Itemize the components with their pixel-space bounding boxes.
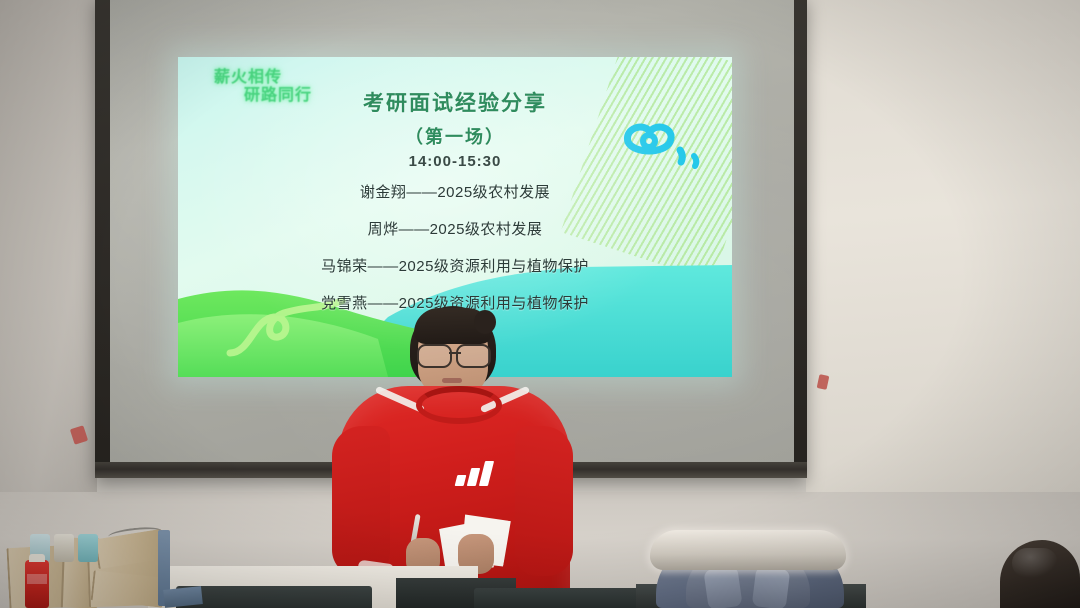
adidas-bar-2: [467, 468, 480, 486]
slide-time: 14:00-15:30: [178, 153, 732, 170]
sweatshirt-collar: [416, 386, 502, 424]
speaker-row: 马锦荣——2025级资源利用与植物保护: [178, 259, 732, 274]
adidas-bar-3: [479, 461, 494, 486]
bottle-label: [27, 574, 47, 584]
slide-title: 考研面试经验分享: [178, 87, 732, 117]
speaker-row: 周烨——2025级农村发展: [178, 222, 732, 237]
drink-bottle: [25, 560, 49, 608]
speaker-row: 谢金翔——2025级农村发展: [178, 185, 732, 200]
presenter: [330, 300, 575, 608]
adidas-bar-1: [455, 475, 467, 486]
classroom-presentation-screenshot: 薪火相传 研路同行 考研面试经验分享 （第一场） 14:00-15:30 谢金翔…: [0, 0, 1080, 608]
winter-coat: [650, 518, 850, 608]
bookend-base: [163, 586, 203, 608]
desk-front-left: [176, 586, 372, 608]
adidas-logo-icon: [456, 460, 494, 486]
hair-highlight: [1012, 548, 1058, 578]
slogan-line-1: 薪火相传: [214, 69, 394, 87]
container: [54, 534, 74, 562]
bottle-cap: [29, 554, 45, 562]
glasses-bridge: [449, 352, 461, 354]
mouth: [442, 378, 462, 383]
sleeve-right: [515, 426, 573, 576]
lens-right: [456, 344, 491, 368]
lens-left: [417, 344, 452, 368]
coat-fold: [752, 566, 791, 608]
hair-bun: [474, 310, 496, 334]
book-stack: [0, 516, 200, 608]
container: [78, 534, 98, 562]
coat-fur-hood: [650, 530, 846, 570]
sleeve-left: [332, 426, 390, 576]
coat-fold: [703, 566, 742, 608]
eyeglasses-icon: [416, 344, 492, 364]
slide-subtitle: （第一场）: [178, 123, 732, 149]
